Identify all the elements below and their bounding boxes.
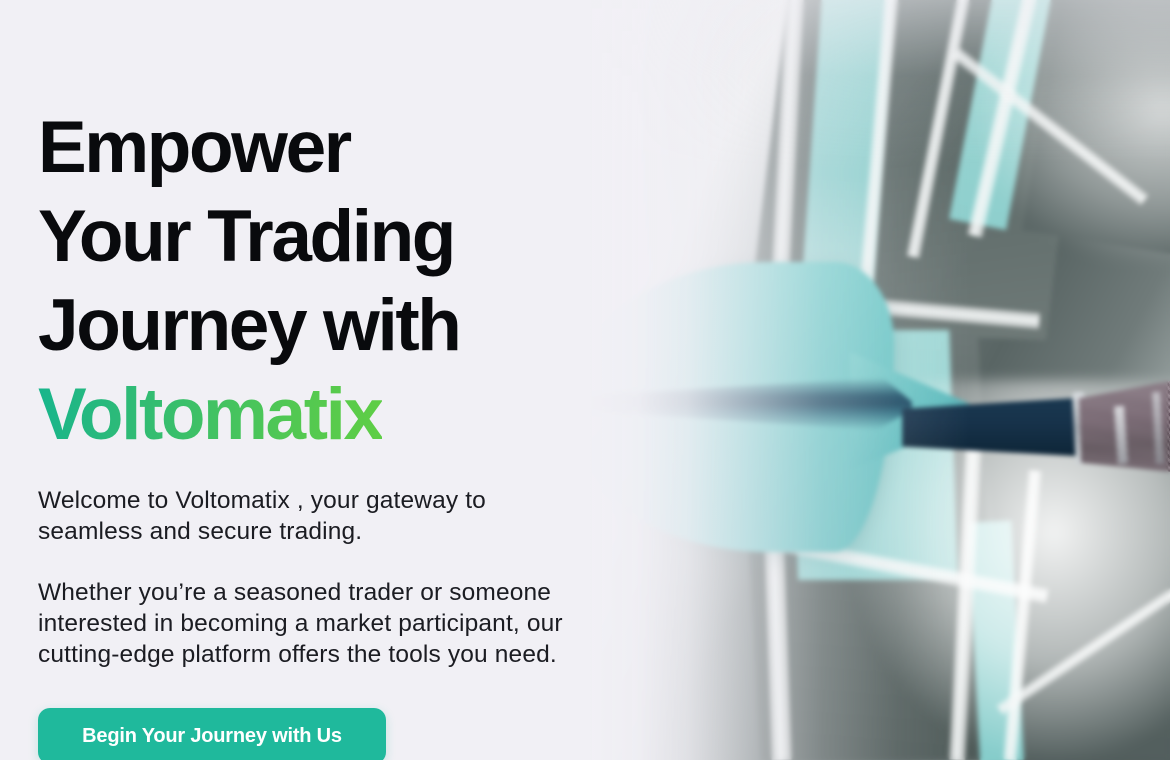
hero-section: Empower Your Trading Journey with Voltom… (0, 0, 1170, 760)
headline-line-3: Journey with (38, 285, 459, 366)
hero-photo (550, 0, 1170, 760)
headline-line-2: Your Trading (38, 196, 454, 277)
brand-name: Voltomatix (38, 370, 382, 459)
hero-paragraph-2: Whether you’re a seasoned trader or some… (38, 577, 583, 670)
hero-paragraph-1: Welcome to Voltomatix , your gateway to … (38, 485, 583, 547)
hero-content: Empower Your Trading Journey with Voltom… (38, 0, 638, 760)
headline-line-1: Empower (38, 107, 350, 188)
page-title: Empower Your Trading Journey with Voltom… (38, 0, 638, 459)
hero-photo-canvas (550, 0, 1170, 760)
begin-journey-button[interactable]: Begin Your Journey with Us (38, 708, 386, 760)
dart-graphic (550, 0, 1170, 760)
